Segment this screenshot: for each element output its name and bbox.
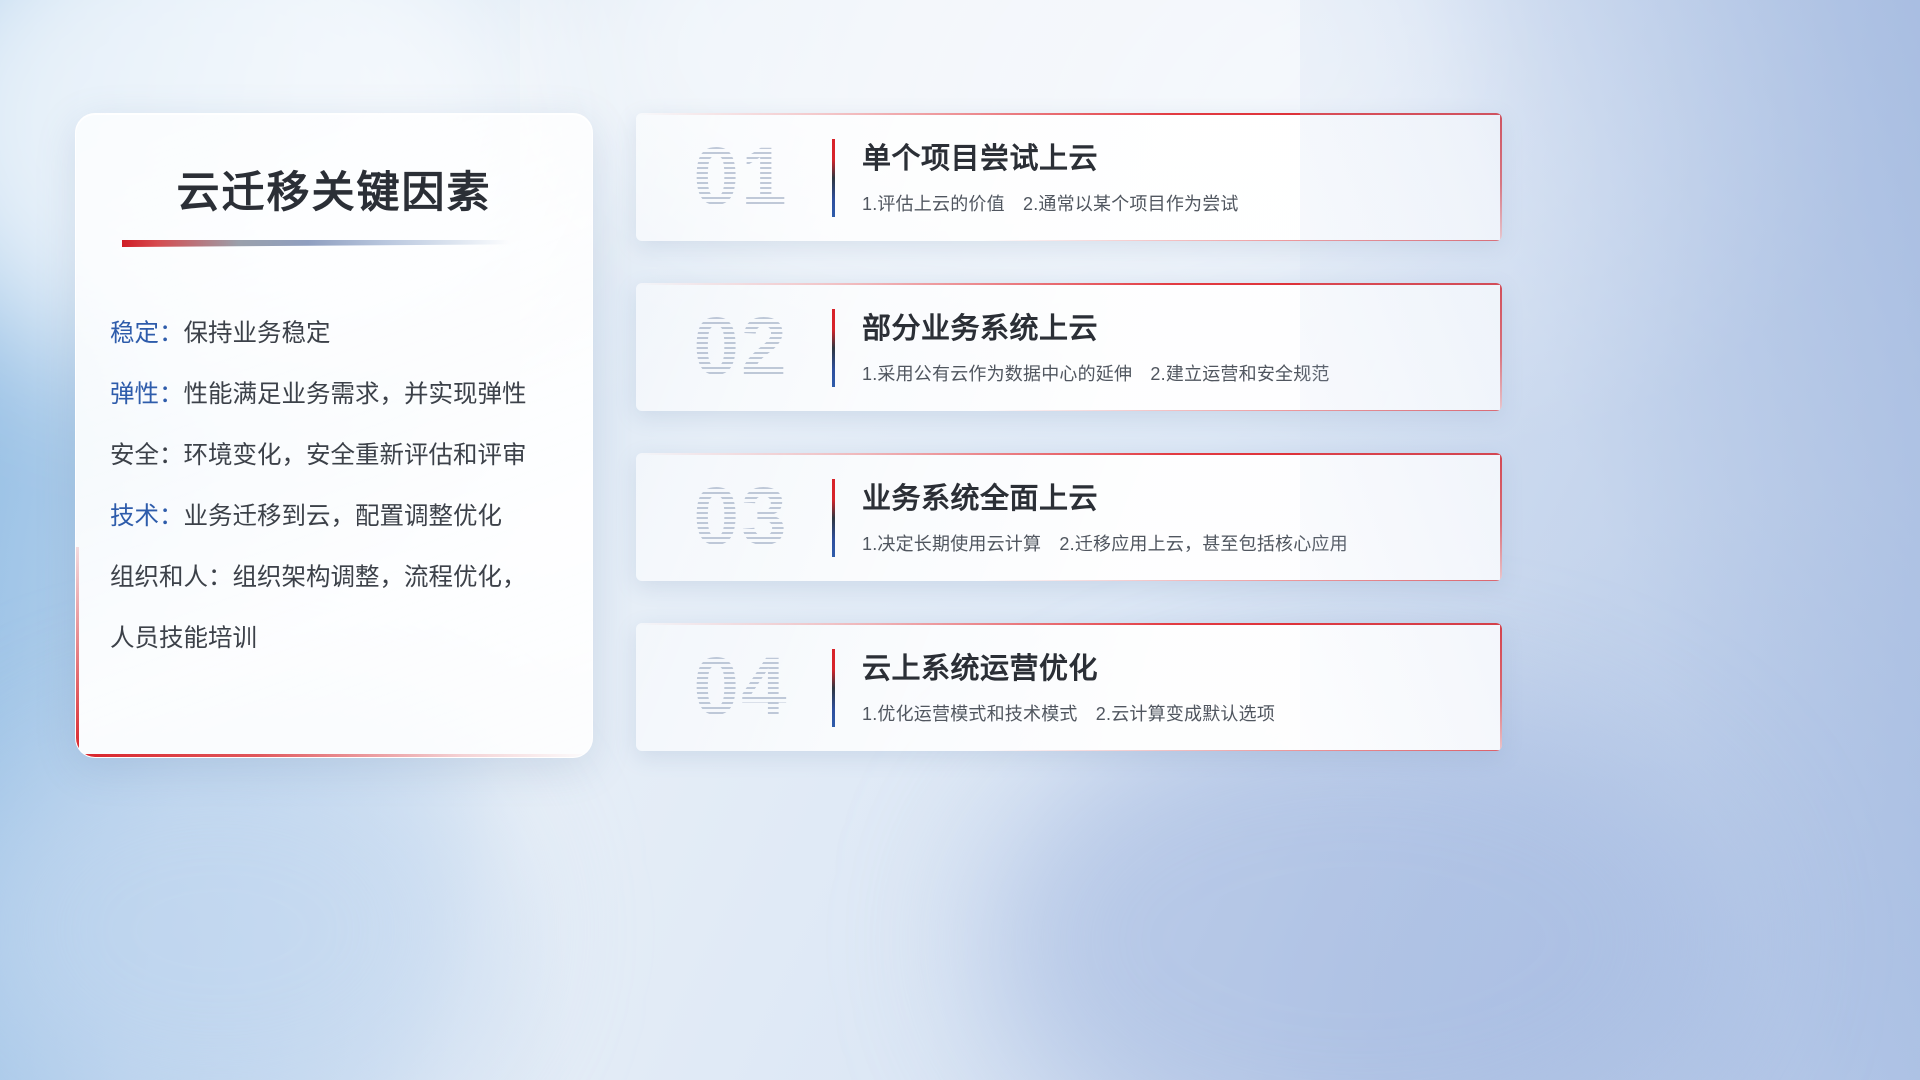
card-body: 部分业务系统上云1.采用公有云作为数据中心的延伸 2.建立运营和安全规范 [862,305,1478,386]
stages-card-list: 01单个项目尝试上云1.评估上云的价值 2.通常以某个项目作为尝试02部分业务系… [636,113,1502,793]
stage-title: 单个项目尝试上云 [862,135,1478,177]
card-divider-line [832,309,835,387]
card-bottom-accent [982,410,1502,412]
slide-canvas: 云迁移关键因素 稳定：保持业务稳定弹性：性能满足业务需求，并实现弹性安全：环境变… [0,0,1920,1080]
card-bottom-accent [982,240,1502,242]
stage-subtitle: 1.评估上云的价值 2.通常以某个项目作为尝试 [862,190,1478,216]
stage-card[interactable]: 01单个项目尝试上云1.评估上云的价值 2.通常以某个项目作为尝试 [636,113,1502,241]
panel-left-accent-line [76,547,79,757]
key-factor-row: 稳定：保持业务稳定 [110,303,592,364]
stage-subtitle: 1.采用公有云作为数据中心的延伸 2.建立运营和安全规范 [862,360,1478,386]
key-factor-row: 组织和人：组织架构调整，流程优化， [110,547,592,608]
key-factor-label: 组织和人： [110,564,233,591]
card-right-accent [1500,453,1502,581]
stage-title: 云上系统运营优化 [862,645,1478,687]
stage-number: 04 [666,637,816,737]
title-underline-gradient [122,240,510,247]
card-body: 单个项目尝试上云1.评估上云的价值 2.通常以某个项目作为尝试 [862,135,1478,216]
stage-number: 03 [666,467,816,567]
card-right-accent [1500,113,1502,241]
stage-card[interactable]: 04云上系统运营优化1.优化运营模式和技术模式 2.云计算变成默认选项 [636,623,1502,751]
key-factor-text: 保持业务稳定 [184,320,331,347]
card-right-accent [1500,623,1502,751]
key-factor-text: 组织架构调整，流程优化， [233,564,527,591]
key-factor-row: 安全：环境变化，安全重新评估和评审 [110,425,592,486]
stage-subtitle: 1.优化运营模式和技术模式 2.云计算变成默认选项 [862,700,1478,726]
key-factor-row: 人员技能培训 [110,608,592,669]
background-glow-bottom-left [0,720,500,1080]
card-divider-line [832,479,835,557]
key-factor-text: 环境变化，安全重新评估和评审 [184,442,527,469]
card-top-accent [636,453,1502,455]
stage-subtitle: 1.决定长期使用云计算 2.迁移应用上云，甚至包括核心应用 [862,530,1478,556]
card-divider-line [832,139,835,217]
stage-title: 业务系统全面上云 [862,475,1478,517]
card-top-accent [636,623,1502,625]
key-factor-text: 性能满足业务需求，并实现弹性 [184,381,527,408]
key-factor-text: 人员技能培训 [110,625,257,652]
card-body: 业务系统全面上云1.决定长期使用云计算 2.迁移应用上云，甚至包括核心应用 [862,475,1478,556]
stage-number: 01 [666,127,816,227]
stage-card[interactable]: 03业务系统全面上云1.决定长期使用云计算 2.迁移应用上云，甚至包括核心应用 [636,453,1502,581]
key-factors-list: 稳定：保持业务稳定弹性：性能满足业务需求，并实现弹性安全：环境变化，安全重新评估… [110,303,592,669]
key-factor-label: 技术： [110,503,184,530]
card-body: 云上系统运营优化1.优化运营模式和技术模式 2.云计算变成默认选项 [862,645,1478,726]
card-top-accent [636,113,1502,115]
key-factor-text: 业务迁移到云，配置调整优化 [184,503,503,530]
key-factor-label: 弹性： [110,381,184,408]
card-divider-line [832,649,835,727]
stage-card[interactable]: 02部分业务系统上云1.采用公有云作为数据中心的延伸 2.建立运营和安全规范 [636,283,1502,411]
key-factor-row: 技术：业务迁移到云，配置调整优化 [110,486,592,547]
panel-bottom-accent-line [76,754,592,757]
card-bottom-accent [982,580,1502,582]
card-bottom-accent [982,750,1502,752]
stage-title: 部分业务系统上云 [862,305,1478,347]
stage-number: 02 [666,297,816,397]
card-top-accent [636,283,1502,285]
key-factor-label: 安全： [110,442,184,469]
page-title: 云迁移关键因素 [76,158,592,220]
card-right-accent [1500,283,1502,411]
key-factor-label: 稳定： [110,320,184,347]
key-factors-panel: 云迁移关键因素 稳定：保持业务稳定弹性：性能满足业务需求，并实现弹性安全：环境变… [75,113,593,758]
key-factor-row: 弹性：性能满足业务需求，并实现弹性 [110,364,592,425]
